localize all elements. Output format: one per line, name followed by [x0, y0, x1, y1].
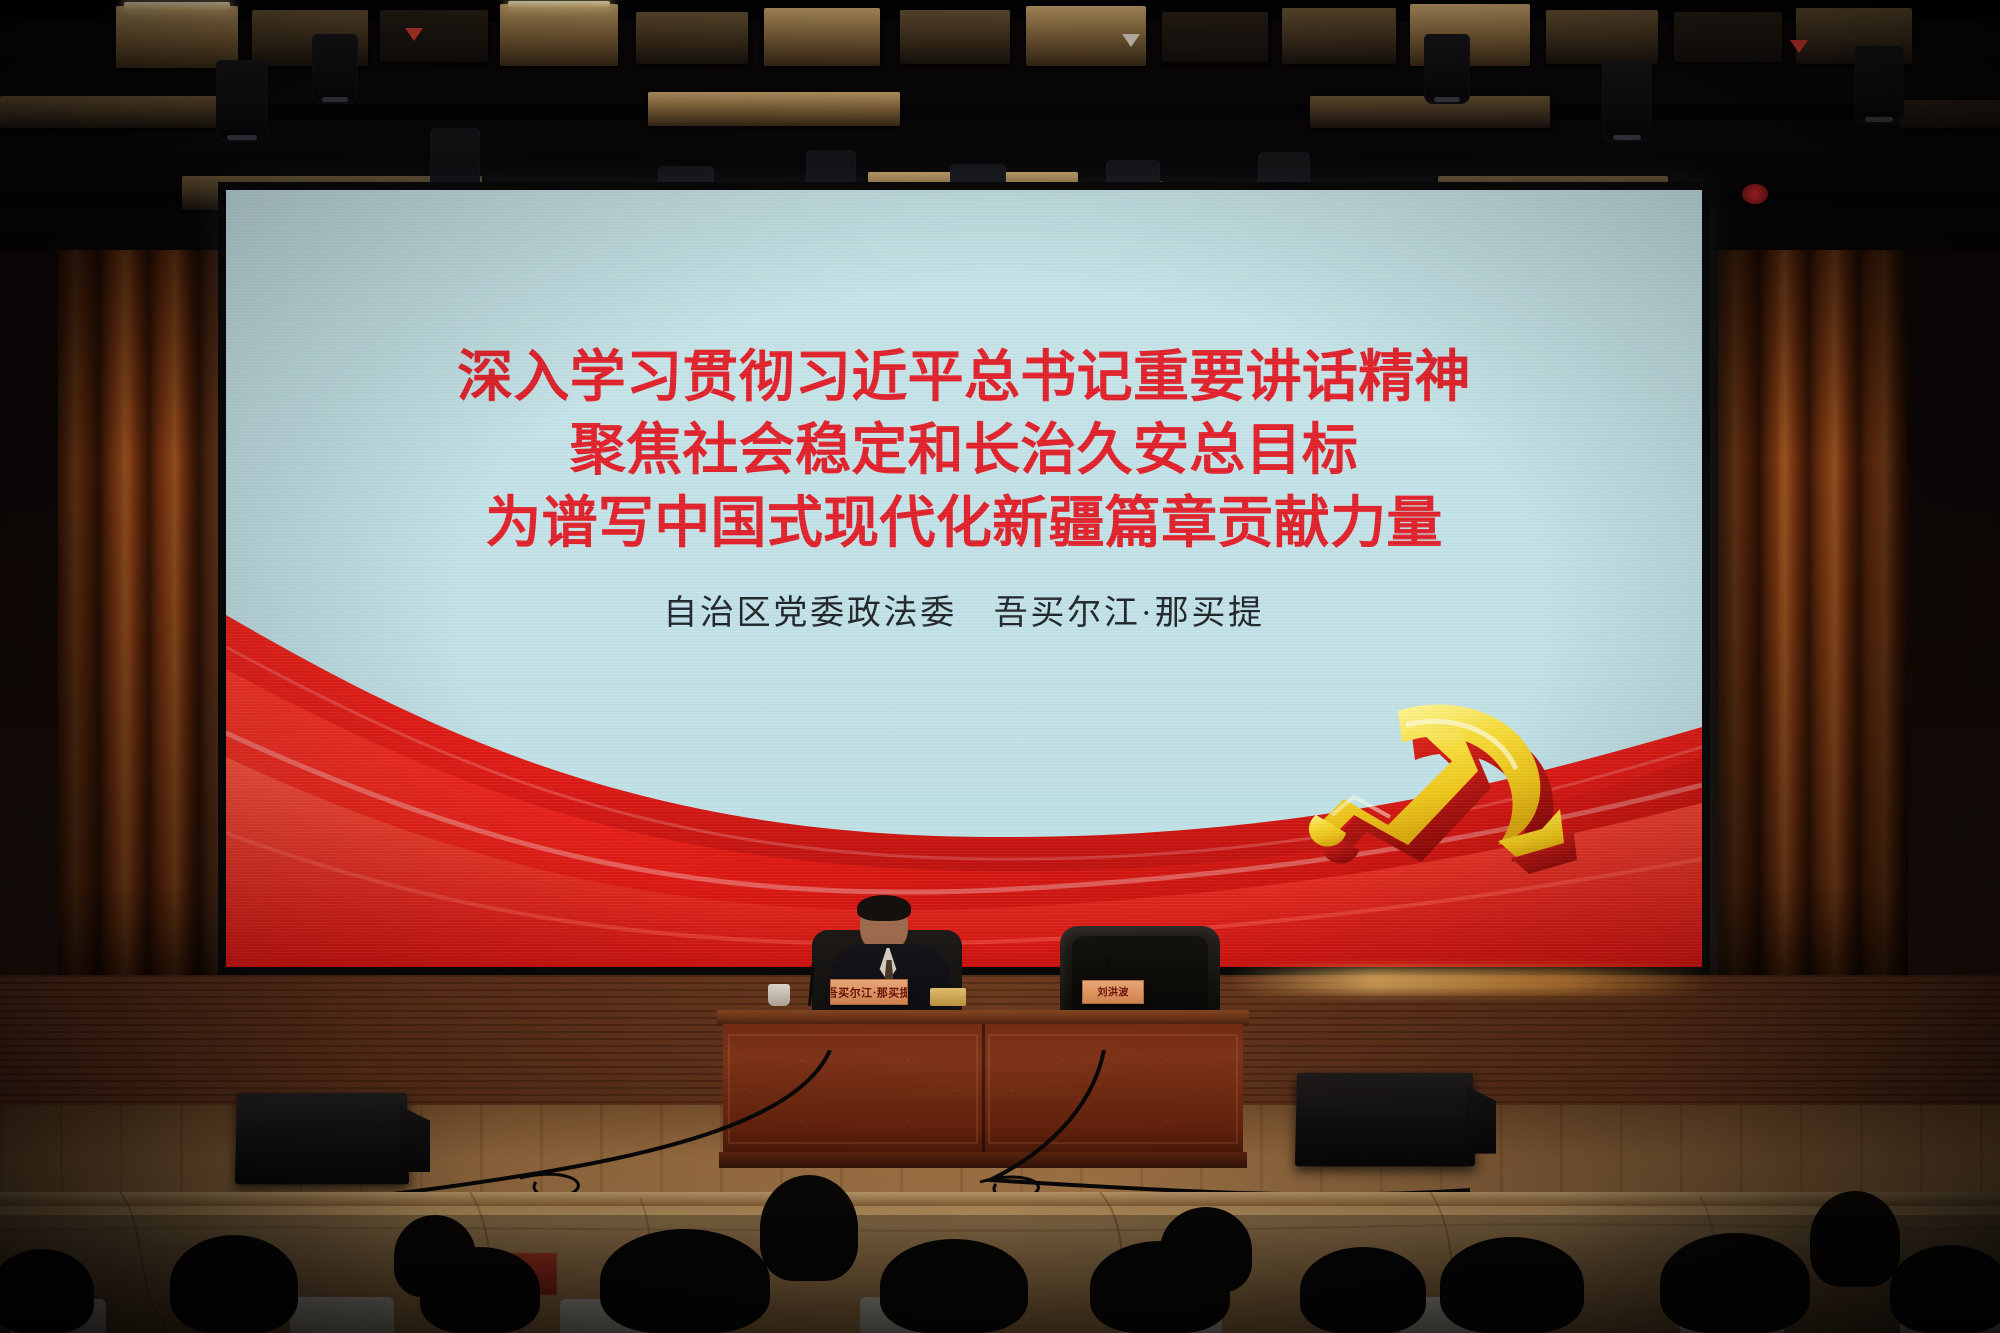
spotlight-fixture	[216, 60, 268, 142]
teacup	[768, 984, 790, 1006]
cable-tag-icon	[1790, 40, 1808, 53]
nameplate-second-text: 刘洪波	[1097, 985, 1129, 1000]
stage-light-fixture	[116, 6, 238, 68]
audience-head	[880, 1239, 1028, 1333]
presentation-slide: 深入学习贯彻习近平总书记重要讲话精神 聚焦社会稳定和长治久安总目标 为谱写中国式…	[226, 190, 1702, 967]
cpc-hammer-sickle-emblem	[1302, 675, 1602, 905]
stage-light-fixture	[764, 8, 880, 66]
stage-light-fixture	[1282, 8, 1396, 64]
audience-head	[1090, 1241, 1230, 1333]
audience-head	[0, 1249, 94, 1333]
stage-curtain-right	[1718, 160, 1908, 1010]
nameplate-second-seat: 刘洪波	[1082, 980, 1144, 1004]
stage-light-fixture	[0, 96, 230, 128]
spotlight-fixture	[1602, 60, 1652, 142]
document-stack	[930, 988, 966, 1006]
audience-head	[600, 1229, 770, 1333]
floor-monitor-speaker-right	[1296, 1072, 1474, 1166]
screen-reflection-glow	[1230, 968, 1710, 994]
stage-light-fixture	[636, 12, 748, 64]
stage-light-fixture	[1900, 100, 2000, 128]
stage-light-fixture	[648, 92, 900, 126]
presidium-chair-empty	[1060, 926, 1220, 1018]
audience-head	[1300, 1247, 1426, 1333]
led-display-screen: 深入学习贯彻习近平总书记重要讲话精神 聚焦社会稳定和长治久安总目标 为谱写中国式…	[218, 182, 1710, 975]
stage-light-fixture	[380, 10, 488, 62]
speaker-hair	[857, 895, 911, 921]
truss-bar	[0, 104, 2000, 120]
slide-title: 深入学习贯彻习近平总书记重要讲话精神 聚焦社会稳定和长治久安总目标 为谱写中国式…	[226, 342, 1702, 560]
stage-curtain-left	[58, 160, 240, 1010]
slide-byline: 自治区党委政法委 吾买尔江·那买提	[226, 585, 1702, 634]
audience-head	[1660, 1233, 1810, 1333]
nameplate-speaker: 吾买尔江·那买提	[830, 979, 908, 1005]
audience-head	[1890, 1245, 2000, 1333]
cable-tag-icon	[405, 28, 423, 41]
audience-head	[1440, 1237, 1584, 1333]
audience-head	[420, 1247, 540, 1333]
lamp-glow	[124, 2, 230, 9]
monitor-cabinet	[235, 1093, 409, 1185]
slide-title-line-2: 聚焦社会稳定和长治久安总目标	[226, 415, 1702, 488]
monitor-cabinet	[1295, 1073, 1475, 1166]
nameplate-speaker-text: 吾买尔江·那买提	[830, 984, 908, 1000]
cable-tag-icon	[1122, 34, 1140, 47]
stage-light-fixture	[1162, 12, 1268, 62]
slide-title-line-3: 为谱写中国式现代化新疆篇章贡献力量	[226, 488, 1702, 561]
indicator-lamp	[1742, 184, 1768, 204]
audience-rows	[0, 1215, 2000, 1333]
conference-stage-scene: 深入学习贯彻习近平总书记重要讲话精神 聚焦社会稳定和长治久安总目标 为谱写中国式…	[0, 0, 2000, 1333]
audience-seat	[290, 1297, 394, 1333]
slide-title-line-1: 深入学习贯彻习近平总书记重要讲话精神	[226, 342, 1702, 415]
audience-head	[170, 1235, 298, 1333]
spotlight-fixture	[1424, 34, 1470, 104]
stage-light-fixture	[900, 10, 1010, 64]
audience-head	[1810, 1191, 1900, 1287]
floor-monitor-speaker-left	[236, 1092, 408, 1184]
audience-head	[760, 1175, 858, 1281]
stage-light-fixture	[1546, 10, 1658, 64]
spotlight-fixture	[1854, 46, 1904, 124]
lamp-glow	[508, 1, 610, 7]
stage-light-fixture	[500, 4, 618, 66]
stage-light-fixture	[1674, 12, 1782, 62]
spotlight-fixture	[312, 34, 358, 104]
